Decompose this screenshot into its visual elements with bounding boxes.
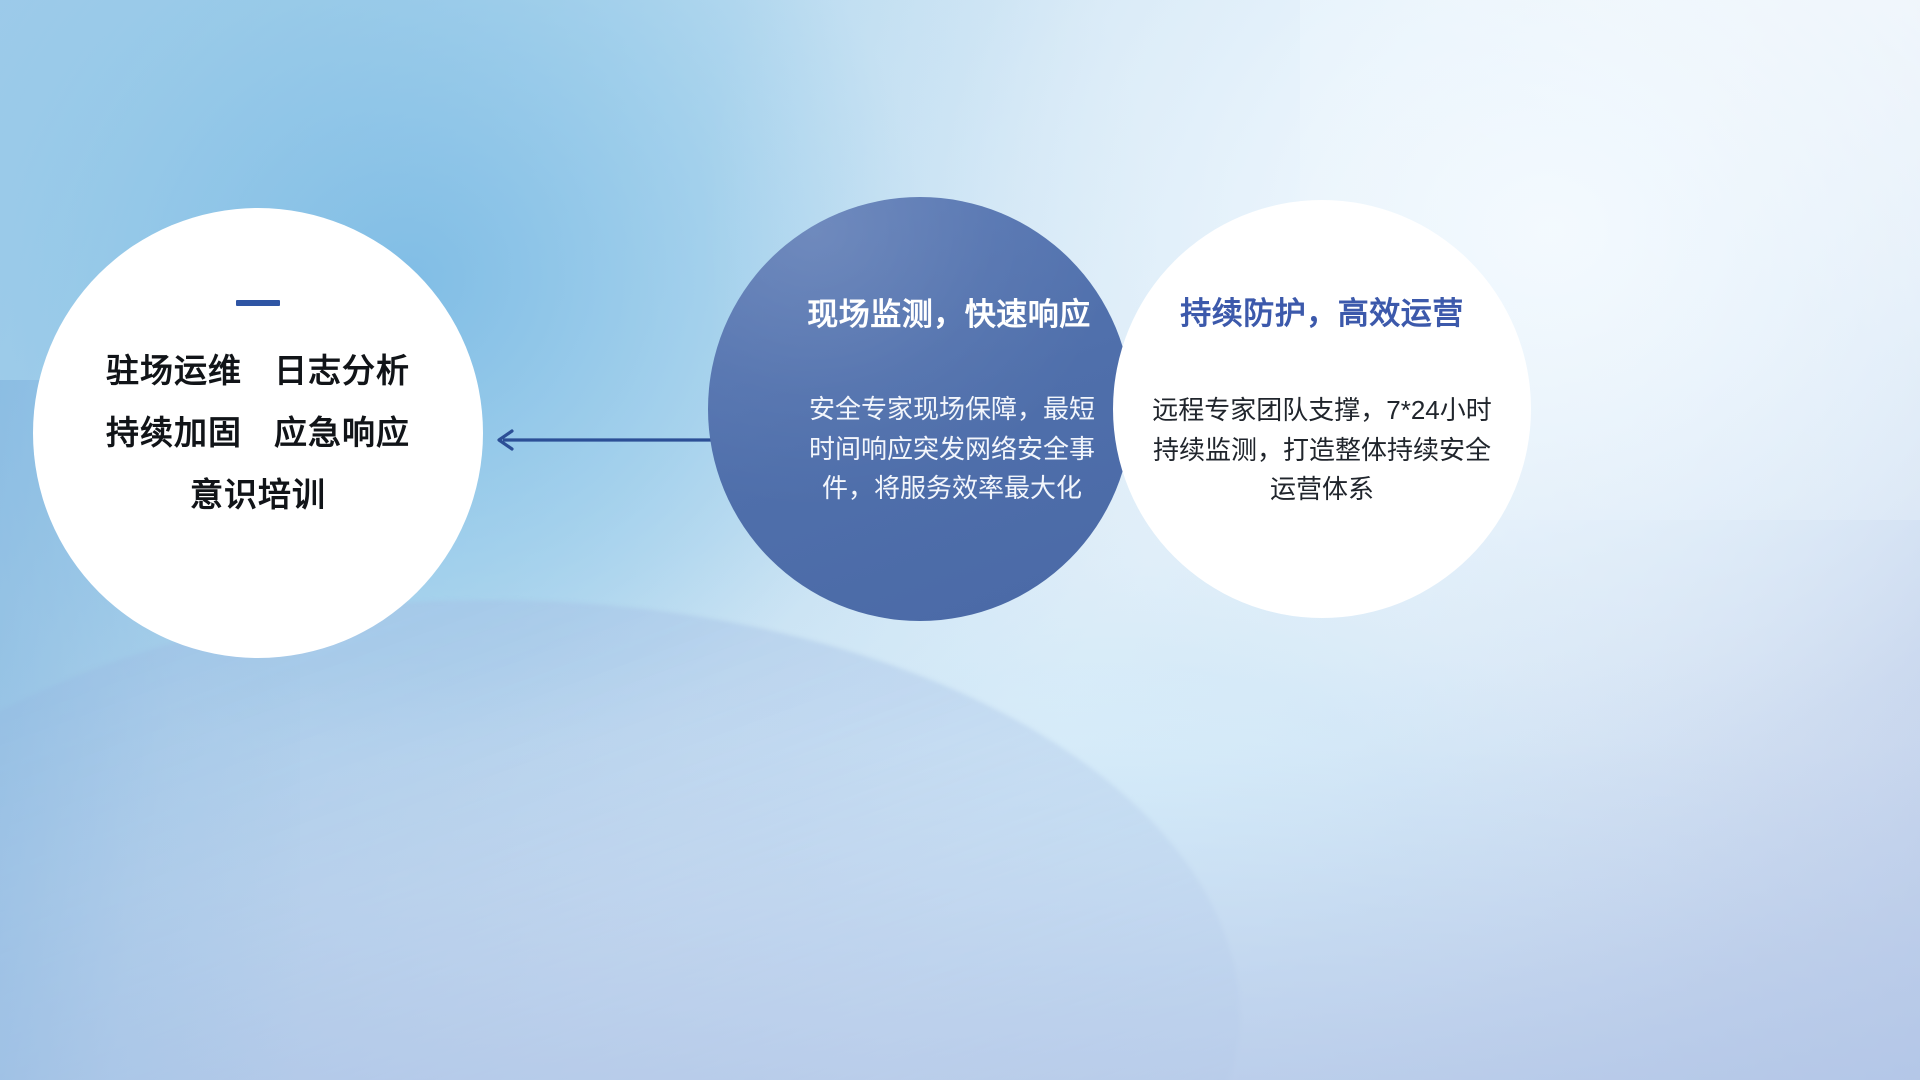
continuous-protection-circle: 持续防护，高效运营 远程专家团队支撑，7*24小时持续监测，打造整体持续安全运营… [1113,200,1531,618]
dash-divider-icon [236,300,280,306]
keyword-item: 持续加固 [106,406,242,454]
capability-keywords-circle: 驻场运维 日志分析 持续加固 应急响应 意识培训 [33,208,483,658]
onsite-monitoring-circle: 现场监测，快速响应 安全专家现场保障，最短时间响应突发网络安全事件，将服务效率最… [708,197,1132,621]
slide-canvas: 驻场运维 日志分析 持续加固 应急响应 意识培训 现场监测，快速响应 安全专家现… [0,0,1920,1080]
keyword-row: 驻场运维 日志分析 [106,344,410,392]
continuous-protection-body: 远程专家团队支撑，7*24小时持续监测，打造整体持续安全运营体系 [1142,391,1502,510]
onsite-monitoring-title: 现场监测，快速响应 [807,289,1091,334]
keyword-item: 应急响应 [274,406,410,454]
keyword-item: 意识培训 [190,468,326,516]
keyword-row: 持续加固 应急响应 [106,406,410,454]
keyword-list: 驻场运维 日志分析 持续加固 应急响应 意识培训 [106,344,410,516]
keyword-item: 驻场运维 [106,344,242,392]
keyword-item: 日志分析 [274,344,410,392]
keyword-row: 意识培训 [190,468,326,516]
flow-arrow-icon [490,424,720,456]
onsite-monitoring-body: 安全专家现场保障，最短时间响应突发网络安全事件，将服务效率最大化 [802,390,1102,509]
continuous-protection-title: 持续防护，高效运营 [1180,288,1464,333]
